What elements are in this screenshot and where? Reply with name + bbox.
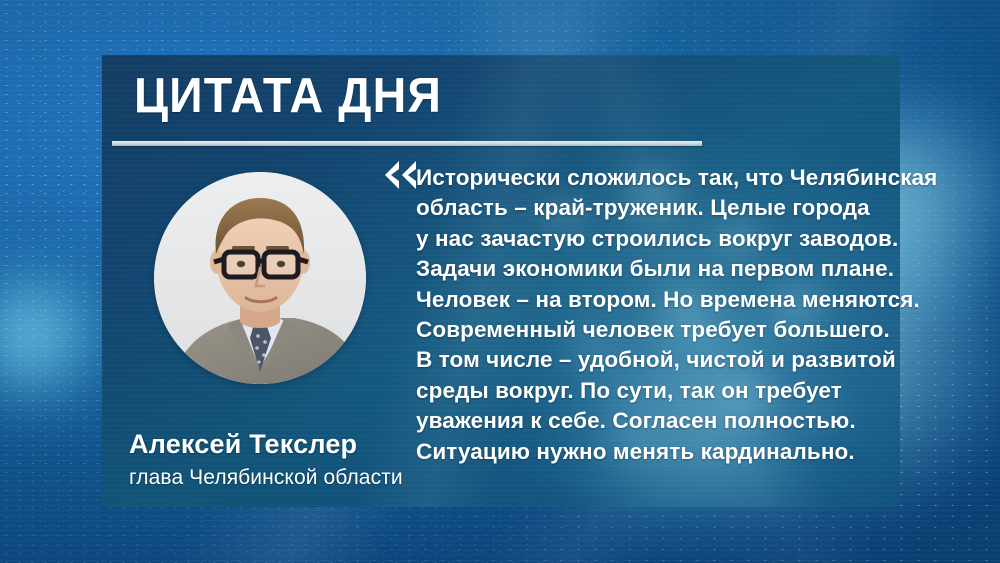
title-divider xyxy=(112,141,702,146)
quote-line: у нас зачастую строились вокруг заводов. xyxy=(416,224,902,254)
quote-of-the-day-graphic: ЦИТАТА ДНЯ xyxy=(0,0,1000,563)
quote-line: Исторически сложилось так, что Челябинск… xyxy=(416,163,902,193)
person-role: глава Челябинской области xyxy=(129,465,403,491)
quote-line: В том числе – удобной, чистой и развитой xyxy=(416,345,902,375)
page-title: ЦИТАТА ДНЯ xyxy=(134,68,442,124)
quote-line: уважения к себе. Согласен полностью. xyxy=(416,406,902,436)
person-name: Алексей Текслер xyxy=(129,428,357,460)
quote-line: Человек – на втором. Но времена меняются… xyxy=(416,285,902,315)
quote-line: Ситуацию нужно менять кардинально. xyxy=(416,437,902,467)
double-chevron-quote-icon xyxy=(384,160,418,190)
quote-text: Исторически сложилось так, что Челябинск… xyxy=(416,163,902,467)
avatar xyxy=(154,172,366,384)
quote-line: среды вокруг. По сути, так он требует xyxy=(416,376,902,406)
quote-line: область – край-труженик. Целые города xyxy=(416,193,902,223)
quote-line: Задачи экономики были на первом плане. xyxy=(416,254,902,284)
quote-line: Современный человек требует большего. xyxy=(416,315,902,345)
